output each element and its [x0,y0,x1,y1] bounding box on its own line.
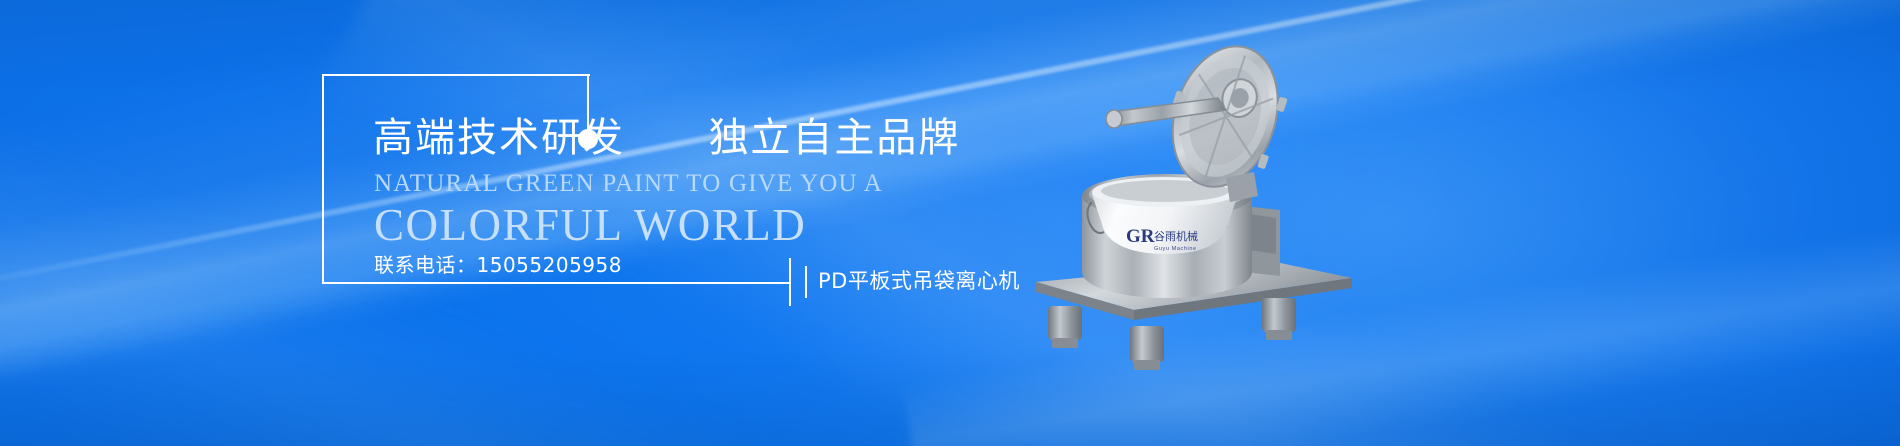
svg-text:Guyu Machine: Guyu Machine [1154,246,1197,252]
frame-bottom-rule [322,282,790,284]
product-name: PD平板式吊袋离心机 [818,265,1020,295]
vertical-tick-icon-tall [789,258,791,306]
product-image-centrifuge: GR 谷雨机械 Guyu Machine [1030,10,1360,410]
title-english: COLORFUL WORLD [374,199,806,251]
headline-left: 高端技术研发 [373,115,625,161]
promo-banner: 高端技术研发 独立自主品牌 NATURAL GREEN PAINT TO GIV… [0,0,1900,446]
headline: 高端技术研发 独立自主品牌 [373,118,960,158]
subtitle-english: NATURAL GREEN PAINT TO GIVE YOU A [374,170,883,198]
contact-phone: 联系电话：15055205958 [374,249,622,278]
vertical-tick-icon-short [805,266,807,298]
headline-right: 独立自主品牌 [708,115,960,161]
svg-text:谷雨机械: 谷雨机械 [1154,229,1198,243]
svg-text:GR: GR [1126,226,1155,247]
background-vignette [0,0,1900,446]
